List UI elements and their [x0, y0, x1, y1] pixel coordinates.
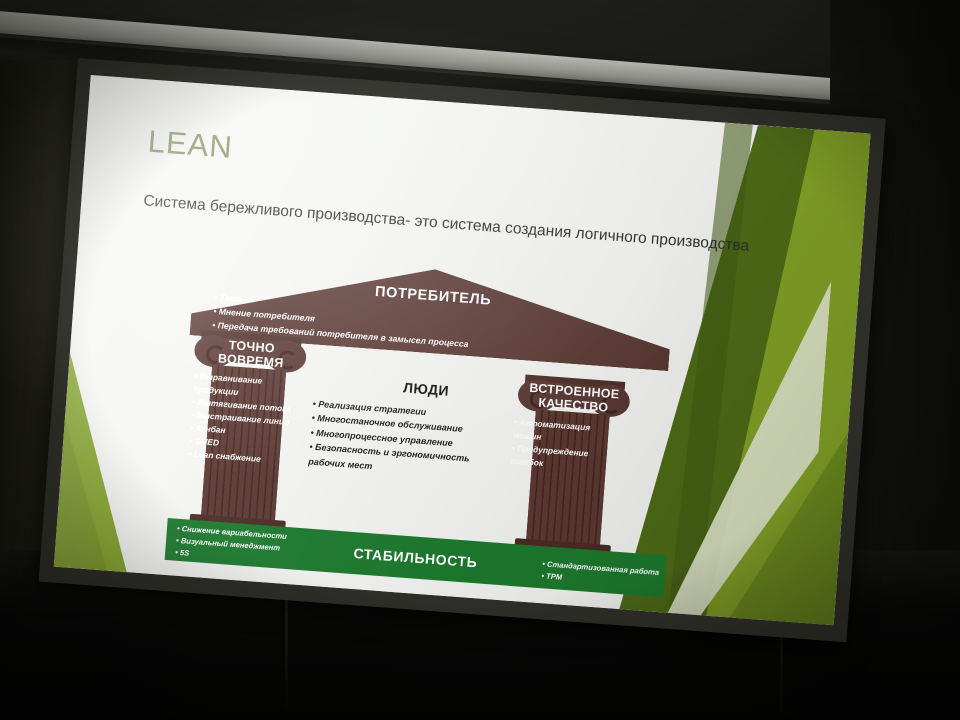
lean-house-diagram: ПОТРЕБИТЕЛЬ • Такт • Мнение потребителя … [173, 251, 675, 596]
projection-screen: LEAN Система бережливого производства- э… [39, 58, 886, 642]
screen-surface: LEAN Система бережливого производства- э… [54, 75, 871, 625]
left-pillar-list: • Выравнивание продукции • Вытягивание п… [188, 370, 326, 471]
presentation-slide: LEAN Система бережливого производства- э… [54, 75, 871, 625]
photo-of-projected-slide: LEAN Система бережливого производства- э… [0, 0, 960, 720]
foundation-right-list: • Стандартизованная работа • TPM [541, 558, 660, 591]
center-list: • Реализация стратегии • Многостаночное … [308, 397, 523, 484]
foundation-left-list: • Снижение вариабельности • Визуальный м… [175, 523, 288, 568]
page-title: LEAN [147, 124, 234, 166]
right-pillar-list: • Автоматизация машин • Предупреждение о… [511, 416, 645, 478]
